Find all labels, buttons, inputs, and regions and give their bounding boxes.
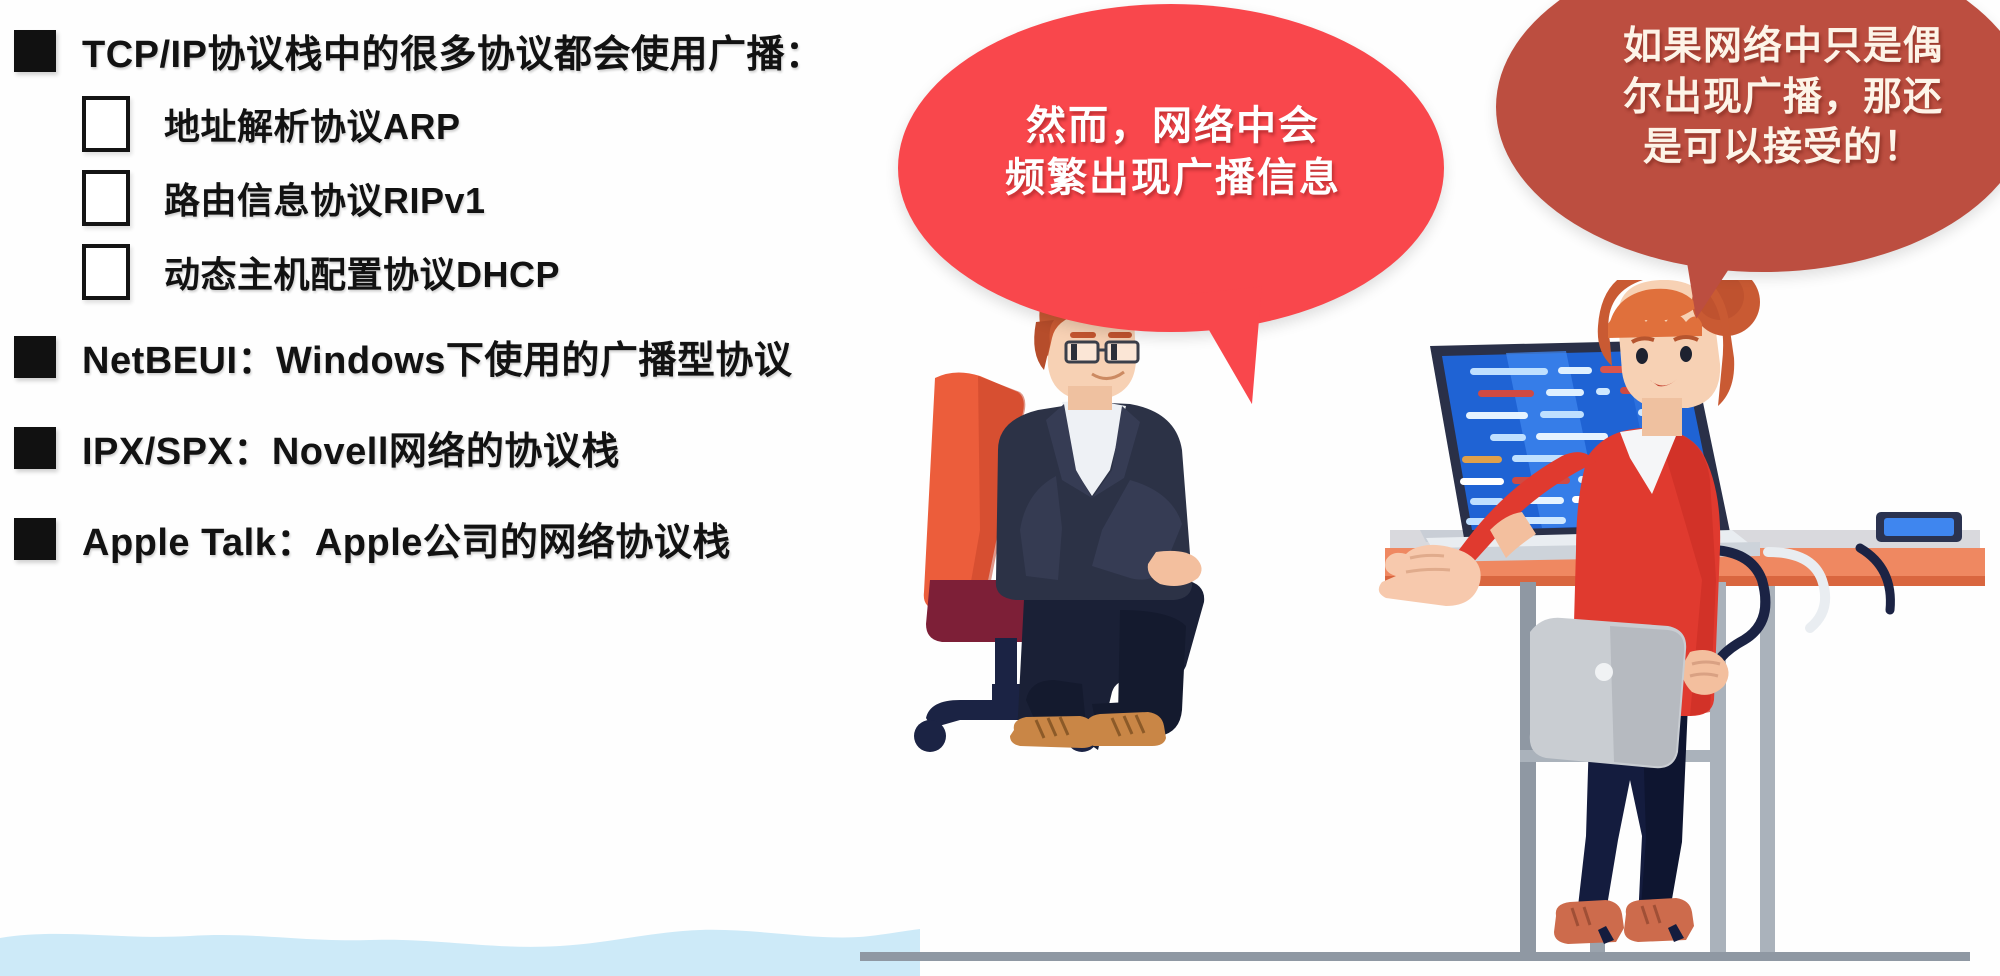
sub-bullet-label: 地址解析协议ARP bbox=[164, 98, 461, 150]
page-title: TCP/IP协议栈中的很多协议都会使用广播： bbox=[82, 23, 823, 78]
open-square-icon bbox=[82, 170, 130, 226]
open-square-icon bbox=[82, 96, 130, 152]
brown-bubble-line-2: 尔出现广播，那还 bbox=[1568, 73, 1998, 124]
sub-bullet-label: 路由信息协议RIPv1 bbox=[164, 172, 486, 224]
brown-bubble-line-3: 是可以接受的！ bbox=[1568, 123, 1998, 174]
slide-canvas: TCP/IP协议栈中的很多协议都会使用广播： 地址解析协议ARP 路由信息协议R… bbox=[0, 0, 2000, 976]
red-bubble-text: 然而，网络中会 频繁出现广播信息 bbox=[918, 100, 1428, 204]
bullet-list: TCP/IP协议栈中的很多协议都会使用广播： 地址解析协议ARP 路由信息协议R… bbox=[0, 0, 900, 720]
main-bullet-netbeui: NetBEUI：Windows下使用的广播型协议 bbox=[14, 329, 792, 384]
mans-hand bbox=[1148, 551, 1202, 586]
red-bubble-line-1: 然而，网络中会 bbox=[918, 100, 1428, 152]
main-bullet-label: Apple Talk：Apple公司的网络协议栈 bbox=[82, 511, 731, 566]
office-illustration bbox=[830, 280, 2000, 976]
main-bullet-label: IPX/SPX：Novell网络的协议栈 bbox=[82, 420, 620, 475]
filled-square-icon bbox=[14, 427, 56, 469]
sub-bullet-ripv1: 路由信息协议RIPv1 bbox=[82, 170, 486, 226]
brown-bubble-line-1: 如果网络中只是偶 bbox=[1568, 22, 1998, 73]
sub-bullet-dhcp: 动态主机配置协议DHCP bbox=[82, 244, 560, 300]
main-bullet-appletalk: Apple Talk：Apple公司的网络协议栈 bbox=[14, 511, 731, 566]
floor-line bbox=[860, 952, 1970, 961]
red-bubble-line-2: 频繁出现广播信息 bbox=[918, 152, 1428, 204]
filled-square-icon bbox=[14, 518, 56, 560]
bottom-wave-decoration bbox=[0, 916, 920, 976]
brown-bubble-text: 如果网络中只是偶 尔出现广播，那还 是可以接受的！ bbox=[1568, 22, 1998, 174]
sub-bullet-label: 动态主机配置协议DHCP bbox=[164, 246, 560, 298]
sub-bullet-arp: 地址解析协议ARP bbox=[82, 96, 461, 152]
main-bullet-label: NetBEUI：Windows下使用的广播型协议 bbox=[82, 329, 792, 384]
filled-square-icon bbox=[14, 336, 56, 378]
main-bullet-ipxspx: IPX/SPX：Novell网络的协议栈 bbox=[14, 420, 620, 475]
brown-bubble-tail bbox=[1670, 207, 1765, 323]
open-square-icon bbox=[82, 244, 130, 300]
heading-bullet: TCP/IP协议栈中的很多协议都会使用广播： bbox=[14, 23, 823, 78]
filled-square-icon bbox=[14, 30, 56, 72]
red-bubble-tail bbox=[1188, 286, 1274, 409]
